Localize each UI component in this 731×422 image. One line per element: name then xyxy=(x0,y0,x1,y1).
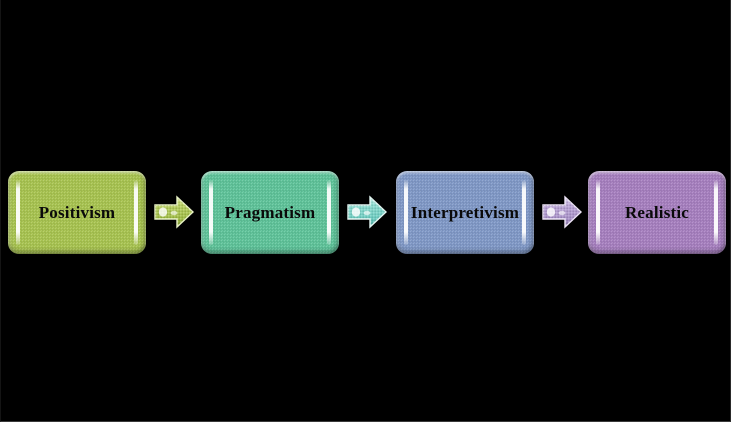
highlight-stripe-right xyxy=(134,180,138,245)
right-arrow-icon xyxy=(346,194,388,230)
highlight-stripe-right xyxy=(327,180,331,245)
node-label: Pragmatism xyxy=(225,203,316,223)
node-positivism[interactable]: Positivism xyxy=(8,171,146,254)
highlight-stripe-left xyxy=(209,180,213,245)
highlight-stripe-left xyxy=(404,180,408,245)
diagram-canvas: Positivism xyxy=(0,0,731,422)
arrow-interpretivism-to-realistic xyxy=(541,194,583,230)
node-label: Positivism xyxy=(39,203,116,223)
highlight-stripe-right xyxy=(714,180,718,245)
node-label: Interpretivism xyxy=(411,203,519,223)
highlight-stripe-left xyxy=(16,180,20,245)
right-arrow-icon xyxy=(541,194,583,230)
arrow-pragmatism-to-interpretivism xyxy=(346,194,388,230)
right-arrow-icon xyxy=(153,194,195,230)
arrow-positivism-to-pragmatism xyxy=(153,194,195,230)
node-label: Realistic xyxy=(625,203,689,223)
node-interpretivism[interactable]: Interpretivism xyxy=(396,171,534,254)
node-pragmatism[interactable]: Pragmatism xyxy=(201,171,339,254)
node-realistic[interactable]: Realistic xyxy=(588,171,726,254)
highlight-stripe-left xyxy=(596,180,600,245)
highlight-stripe-right xyxy=(522,180,526,245)
